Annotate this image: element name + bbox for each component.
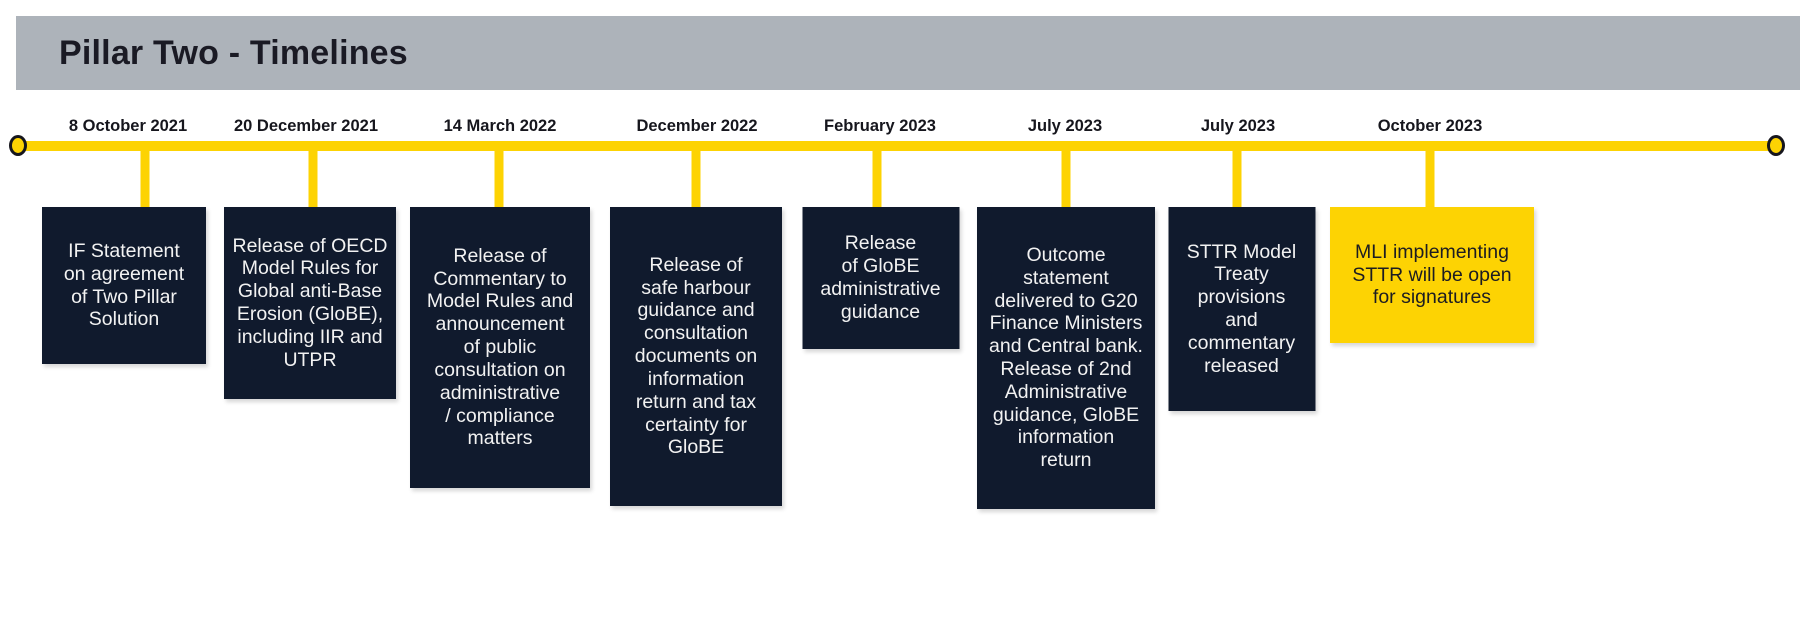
milestone-stem-2 [309, 151, 318, 215]
milestone-date-8: October 2023 [1378, 117, 1483, 136]
milestone-stem-5 [873, 151, 882, 215]
milestone-stem-3 [495, 151, 504, 215]
milestone-card-3[interactable]: Release of Commentary to Model Rules and… [410, 207, 590, 488]
milestone-stem-7 [1233, 151, 1242, 215]
milestone-card-text-3: Release of Commentary to Model Rules and… [427, 245, 573, 450]
milestone-stem-6 [1062, 151, 1071, 215]
milestone-date-4: December 2022 [636, 117, 757, 136]
milestone-card-text-4: Release of safe harbour guidance and con… [635, 254, 758, 459]
milestone-card-5[interactable]: Release of GloBE administrative guidance [802, 207, 959, 349]
milestone-stem-4 [692, 151, 701, 215]
milestone-card-6[interactable]: Outcome statement delivered to G20 Finan… [977, 207, 1155, 509]
milestone-card-1[interactable]: IF Statement on agreement of Two Pillar … [42, 207, 206, 364]
milestone-date-5: February 2023 [824, 117, 936, 136]
milestone-date-2: 20 December 2021 [234, 117, 378, 136]
milestone-stem-8 [1426, 151, 1435, 215]
milestone-card-8[interactable]: MLI implementing STTR will be open for s… [1330, 207, 1534, 343]
timeline-end-dot [1767, 135, 1785, 156]
milestone-card-7[interactable]: STTR Model Treaty provisions and comment… [1168, 207, 1315, 411]
timeline-axis [24, 141, 1778, 151]
milestone-card-text-7: STTR Model Treaty provisions and comment… [1187, 241, 1296, 378]
milestone-card-text-2: Release of OECD Model Rules for Global a… [233, 235, 388, 372]
milestone-stem-1 [141, 151, 150, 215]
timeline-start-dot [9, 135, 27, 156]
timeline-diagram: 8 October 2021 IF Statement on agreement… [0, 0, 1800, 630]
milestone-date-1: 8 October 2021 [69, 117, 187, 136]
milestone-date-3: 14 March 2022 [444, 117, 557, 136]
milestone-date-7: July 2023 [1201, 117, 1275, 136]
milestone-card-text-6: Outcome statement delivered to G20 Finan… [989, 244, 1143, 472]
milestone-card-text-5: Release of GloBE administrative guidance [820, 232, 940, 323]
milestone-card-2[interactable]: Release of OECD Model Rules for Global a… [224, 207, 396, 399]
milestone-card-text-8: MLI implementing STTR will be open for s… [1352, 241, 1511, 309]
milestone-card-text-1: IF Statement on agreement of Two Pillar … [64, 240, 184, 331]
milestone-card-4[interactable]: Release of safe harbour guidance and con… [610, 207, 782, 506]
milestone-date-6: July 2023 [1028, 117, 1102, 136]
